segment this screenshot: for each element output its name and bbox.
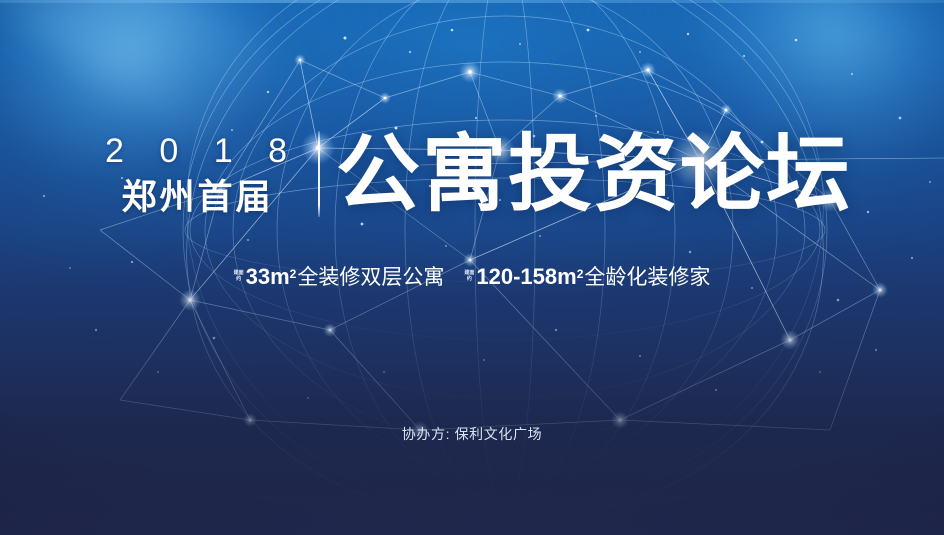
subtitle-block: 建面 约 33 m 2 全装修双层公寓 建面 约 120-158 m 2 全龄化… [0, 266, 944, 288]
page-title: 公寓投资论坛 [334, 132, 852, 216]
area-prefix-line2: 约 [236, 277, 241, 282]
area-number-2: 120-158 [476, 266, 557, 288]
area-unit-2: m [557, 266, 577, 288]
subtitle-segment-2: 建面 约 120-158 m 2 全龄化装修家 [464, 266, 710, 288]
poster-canvas: 2 0 1 8 郑州首届 公寓投资论坛 建面 约 33 m 2 全装修双层公寓 … [0, 0, 944, 535]
co-organizer-line: 协办方: 保利文化广场 [0, 424, 944, 444]
headline-block: 2 0 1 8 郑州首届 公寓投资论坛 [0, 131, 944, 217]
subtitle-segment-1: 建面 约 33 m 2 全装修双层公寓 [234, 266, 445, 288]
area-number-1: 33 [246, 266, 270, 288]
area-superscript-1: 2 [290, 268, 297, 280]
poster-content: 2 0 1 8 郑州首届 公寓投资论坛 建面 约 33 m 2 全装修双层公寓 … [0, 0, 944, 535]
vertical-divider [318, 131, 320, 217]
event-edition: 郑州首届 [118, 180, 273, 215]
event-year: 2 0 1 8 [92, 134, 300, 168]
area-superscript-2: 2 [577, 268, 584, 280]
area-prefix-label-2: 建面 约 [464, 268, 474, 285]
area-prefix-line2: 约 [467, 277, 472, 282]
area-prefix-label-1: 建面 约 [234, 268, 244, 285]
area-description-1: 全装修双层公寓 [297, 267, 444, 288]
headline-left-group: 2 0 1 8 郑州首届 [92, 134, 316, 215]
area-unit-1: m [270, 266, 290, 288]
area-description-2: 全龄化装修家 [584, 267, 710, 288]
